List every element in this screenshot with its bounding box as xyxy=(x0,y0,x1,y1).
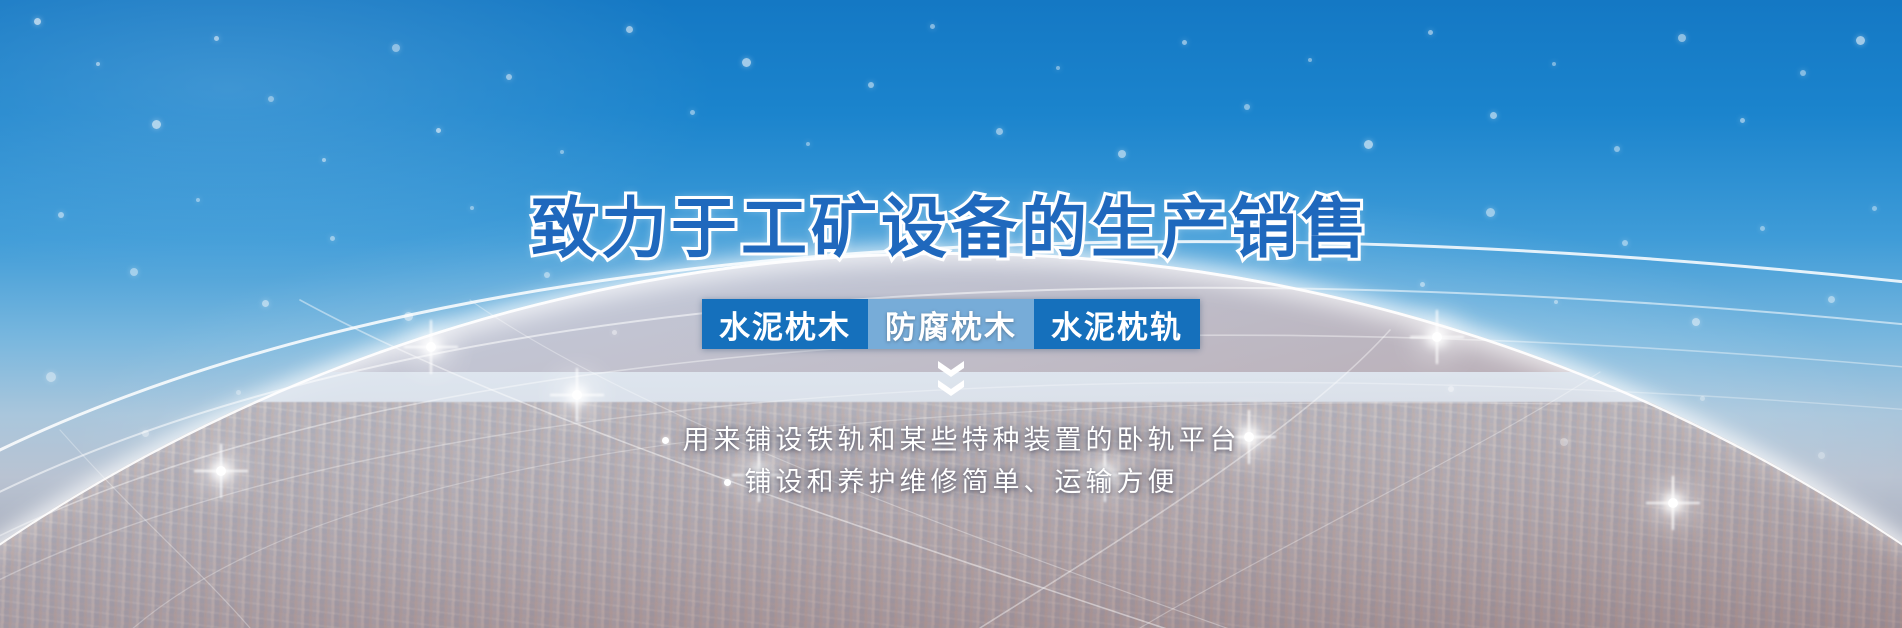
product-tag-3[interactable]: 水泥枕轨 xyxy=(1034,299,1200,349)
product-tag-bar: 水泥枕木 防腐枕木 水泥枕轨 xyxy=(702,299,1200,349)
list-item: 铺设和养护维修简单、运输方便 xyxy=(724,462,1179,504)
list-item-label: 铺设和养护维修简单、运输方便 xyxy=(745,462,1179,504)
double-chevron-down-icon xyxy=(931,361,971,396)
banner-content: 致力于工矿设备的生产销售 水泥枕木 防腐枕木 水泥枕轨 用来铺设铁轨和某些特种装… xyxy=(0,0,1902,628)
feature-list: 用来铺设铁轨和某些特种装置的卧轨平台 铺设和养护维修简单、运输方便 xyxy=(0,420,1902,504)
chevron-down-icon xyxy=(936,361,966,377)
page-title: 致力于工矿设备的生产销售 xyxy=(0,196,1902,262)
product-tag-2[interactable]: 防腐枕木 xyxy=(868,299,1034,349)
list-item: 用来铺设铁轨和某些特种装置的卧轨平台 xyxy=(662,420,1241,462)
bullet-dot-icon xyxy=(662,437,669,444)
chevron-down-icon xyxy=(936,380,966,396)
list-item-label: 用来铺设铁轨和某些特种装置的卧轨平台 xyxy=(683,420,1241,462)
product-tag-1[interactable]: 水泥枕木 xyxy=(702,299,868,349)
bullet-dot-icon xyxy=(724,479,731,486)
hero-banner: 致力于工矿设备的生产销售 水泥枕木 防腐枕木 水泥枕轨 用来铺设铁轨和某些特种装… xyxy=(0,0,1902,628)
